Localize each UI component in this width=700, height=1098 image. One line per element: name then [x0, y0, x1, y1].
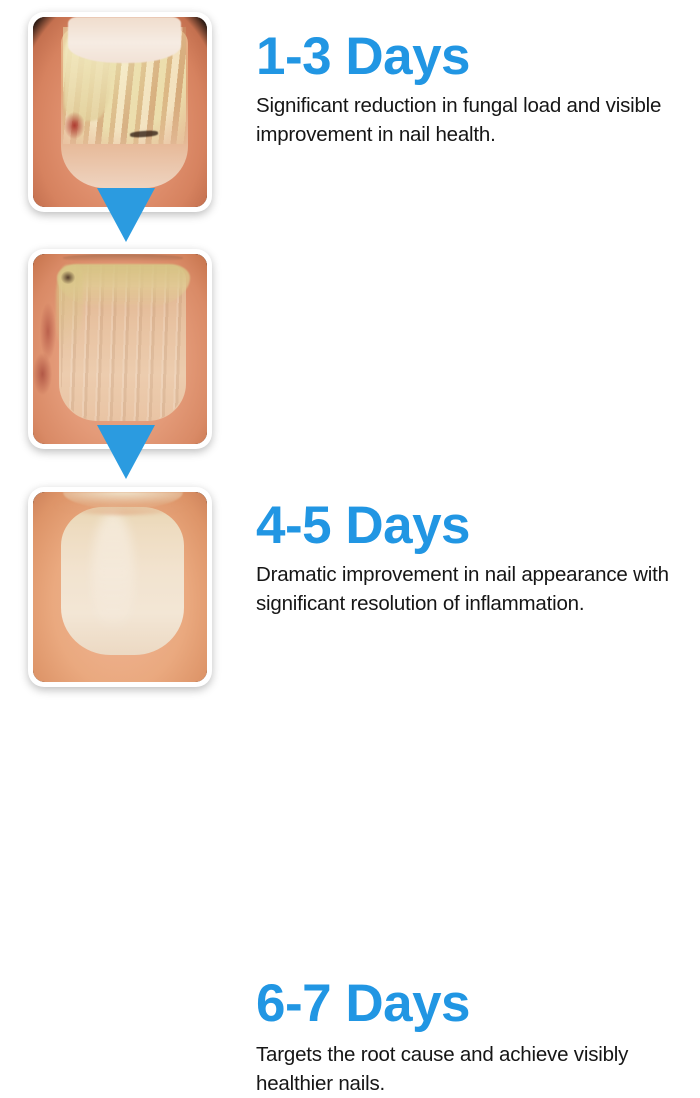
nail-photo-1 [33, 17, 207, 207]
step-1-heading: 1-3 Days [256, 29, 686, 85]
nail-photo-card-2 [28, 249, 212, 449]
timeline-step-1: 1-3 Days Significant reduction in fungal… [0, 12, 700, 212]
arrow-down-triangle-icon-1 [97, 188, 155, 242]
step-3-copy: 6-7 Days Targets the root cause and achi… [256, 976, 686, 1098]
arrow-down-triangle-icon-2 [97, 425, 155, 479]
cuticle-shadow [54, 492, 190, 515]
step-1-description: Significant reduction in fungal load and… [256, 91, 686, 149]
nail-photo-3 [33, 492, 207, 682]
nail-photo-card-3 [28, 487, 212, 687]
nail-photo-card-1 [28, 12, 212, 212]
nail-highlight [92, 511, 134, 629]
nail-tip-line [63, 254, 183, 262]
step-3-heading: 6-7 Days [256, 976, 686, 1032]
inflammation-left [40, 303, 56, 360]
nail-tip-layer [68, 17, 181, 63]
treatment-timeline: 1-3 Days Significant reduction in fungal… [0, 0, 700, 700]
timeline-step-3: 6-7 Days Targets the root cause and achi… [0, 487, 700, 687]
dark-spot-mark [61, 271, 75, 284]
step-1-copy: 1-3 Days Significant reduction in fungal… [256, 29, 686, 149]
inflammation-spot [64, 112, 85, 139]
step-3-description: Targets the root cause and achieve visib… [256, 1040, 686, 1098]
nail-photo-2 [33, 254, 207, 444]
inflammation-right [33, 353, 52, 395]
timeline-step-2: 4-5 Days Dramatic improvement in nail ap… [0, 249, 700, 449]
